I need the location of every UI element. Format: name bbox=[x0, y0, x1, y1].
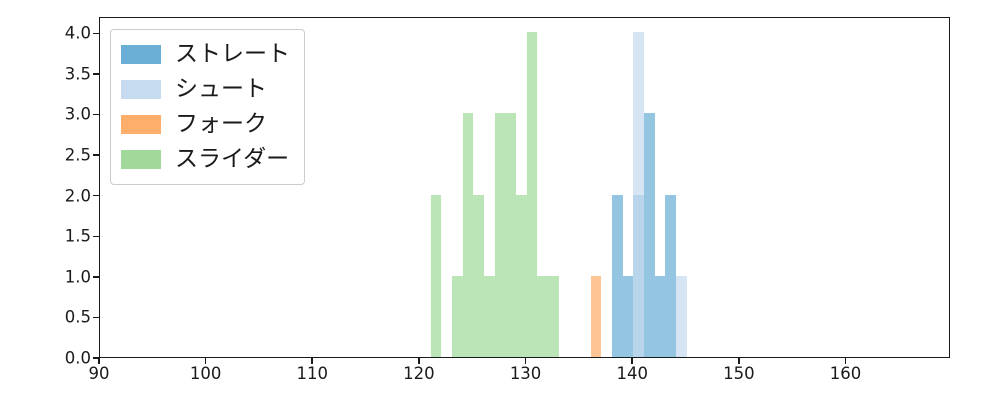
x-tick-mark bbox=[98, 357, 100, 364]
y-tick-label-group: 0.00.51.01.52.02.53.03.54.0 bbox=[25, 0, 91, 400]
y-tick-label: 1.5 bbox=[31, 227, 91, 246]
legend-item[interactable]: フォーク bbox=[121, 107, 290, 142]
histogram-bar bbox=[623, 276, 634, 357]
histogram-bar bbox=[452, 276, 463, 357]
histogram-bar bbox=[548, 276, 559, 357]
x-tick-label: 160 bbox=[805, 364, 885, 383]
x-tick-label: 130 bbox=[486, 364, 566, 383]
y-tick-label: 0.5 bbox=[31, 308, 91, 327]
x-tick-label: 100 bbox=[166, 364, 246, 383]
x-tick-label: 150 bbox=[699, 364, 779, 383]
legend-item[interactable]: シュート bbox=[121, 72, 290, 107]
y-tick-label: 2.0 bbox=[31, 186, 91, 205]
legend-swatch-icon bbox=[121, 115, 161, 134]
histogram-bar bbox=[516, 195, 527, 357]
y-tick-mark bbox=[93, 317, 99, 318]
histogram-bar bbox=[463, 113, 474, 357]
x-tick-mark bbox=[205, 357, 207, 364]
legend-item[interactable]: ストレート bbox=[121, 37, 290, 72]
histogram-bar bbox=[655, 276, 666, 357]
y-tick-label: 3.5 bbox=[31, 64, 91, 83]
histogram-bar bbox=[431, 195, 442, 357]
histogram-figure: 0.00.51.01.52.02.53.03.54.0 球数 ストレートシュート… bbox=[0, 0, 1000, 400]
x-tick-label: 90 bbox=[59, 364, 139, 383]
histogram-bar bbox=[676, 276, 687, 357]
histogram-bar bbox=[473, 195, 484, 357]
histogram-bar bbox=[484, 276, 495, 357]
x-tick-mark bbox=[845, 357, 847, 364]
histogram-bar bbox=[537, 276, 548, 357]
histogram-bar bbox=[665, 195, 676, 357]
y-tick-mark bbox=[93, 236, 99, 237]
y-tick-mark bbox=[93, 73, 99, 74]
y-tick-label: 4.0 bbox=[31, 24, 91, 43]
x-tick-label: 110 bbox=[272, 364, 352, 383]
histogram-bar bbox=[527, 32, 538, 357]
histogram-bar bbox=[505, 113, 516, 357]
y-tick-mark bbox=[93, 276, 99, 277]
x-tick-label: 120 bbox=[379, 364, 459, 383]
histogram-bar bbox=[644, 113, 655, 357]
y-tick-label: 1.0 bbox=[31, 267, 91, 286]
x-tick-mark bbox=[418, 357, 420, 364]
chart-legend: ストレートシュートフォークスライダー bbox=[110, 29, 305, 185]
y-tick-label: 3.0 bbox=[31, 105, 91, 124]
legend-swatch-icon bbox=[121, 150, 161, 169]
legend-item[interactable]: スライダー bbox=[121, 142, 290, 177]
histogram-bar bbox=[612, 195, 623, 357]
legend-swatch-icon bbox=[121, 45, 161, 64]
y-tick-mark bbox=[93, 195, 99, 196]
histogram-bar bbox=[591, 276, 602, 357]
y-tick-mark bbox=[93, 33, 99, 34]
histogram-bar bbox=[495, 113, 506, 357]
x-tick-mark bbox=[631, 357, 633, 364]
histogram-bar bbox=[633, 32, 644, 357]
x-tick-mark bbox=[525, 357, 527, 364]
y-tick-mark bbox=[93, 114, 99, 115]
legend-label: スライダー bbox=[175, 148, 289, 171]
x-tick-label: 140 bbox=[592, 364, 672, 383]
x-tick-mark bbox=[738, 357, 740, 364]
y-tick-label: 2.5 bbox=[31, 146, 91, 165]
x-tick-mark bbox=[311, 357, 313, 364]
legend-label: ストレート bbox=[175, 43, 290, 66]
legend-label: シュート bbox=[175, 78, 267, 101]
y-tick-mark bbox=[93, 154, 99, 155]
legend-label: フォーク bbox=[175, 113, 267, 136]
legend-swatch-icon bbox=[121, 80, 161, 99]
